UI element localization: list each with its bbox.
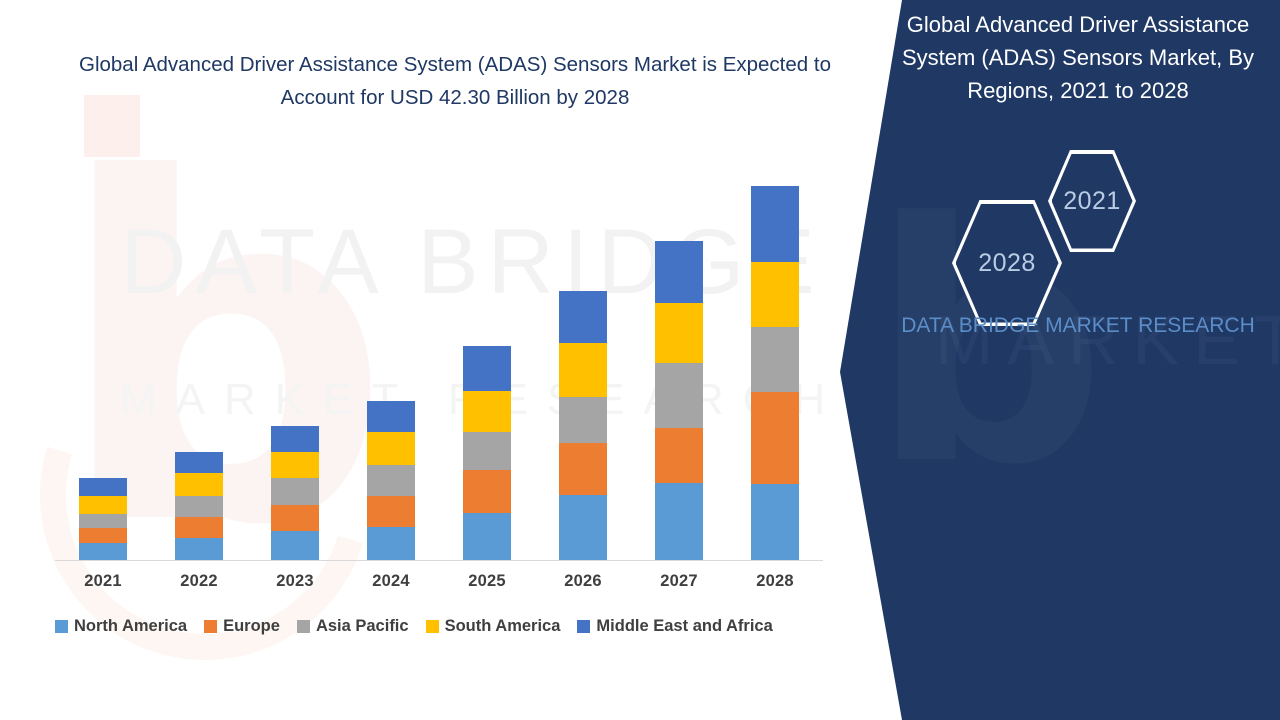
chart-legend: North AmericaEuropeAsia PacificSouth Ame…: [55, 617, 845, 636]
legend-label: Middle East and Africa: [596, 617, 772, 636]
bar-segment: [79, 496, 127, 514]
bar-segment: [367, 496, 415, 527]
brand-name: DATA BRIDGE MARKET RESEARCH: [892, 310, 1264, 342]
x-tick-2026: 2026: [535, 572, 631, 591]
stacked-bar: [559, 291, 607, 560]
x-tick-2025: 2025: [439, 572, 535, 591]
bar-segment: [751, 262, 799, 328]
bar-column-2023: [247, 160, 343, 560]
legend-item[interactable]: Europe: [204, 617, 280, 636]
chart-panel: b DATA BRIDGE MARKET RESEARCH Global Adv…: [0, 0, 900, 720]
title-panel: b MARKET RESEARCH Global Advanced Driver…: [840, 0, 1280, 720]
bar-segment: [79, 543, 127, 560]
legend-swatch-icon: [426, 620, 439, 633]
legend-swatch-icon: [55, 620, 68, 633]
x-axis-line: [55, 560, 823, 561]
page-title: Global Advanced Driver Assistance System…: [60, 48, 850, 114]
legend-label: South America: [445, 617, 561, 636]
x-tick-2023: 2023: [247, 572, 343, 591]
bar-segment: [175, 538, 223, 560]
bar-segment: [367, 527, 415, 560]
bar-segment: [655, 428, 703, 483]
bar-segment: [367, 465, 415, 496]
bar-segment: [175, 496, 223, 517]
legend-label: Asia Pacific: [316, 617, 409, 636]
stacked-bar: [79, 478, 127, 560]
bar-segment: [463, 346, 511, 391]
bar-segment: [559, 443, 607, 495]
bar-segment: [271, 426, 319, 452]
hexagon-2028-label: 2028: [956, 204, 1059, 323]
bar-segment: [271, 452, 319, 478]
legend-label: North America: [74, 617, 187, 636]
stacked-bar: [655, 241, 703, 560]
legend-item[interactable]: North America: [55, 617, 187, 636]
x-tick-2022: 2022: [151, 572, 247, 591]
bar-column-2022: [151, 160, 247, 560]
hexagon-2021-label: 2021: [1052, 154, 1133, 249]
bar-segment: [367, 401, 415, 433]
stacked-bar: [175, 452, 223, 560]
bar-segment: [175, 473, 223, 496]
bar-segment: [655, 241, 703, 304]
panel-title: Global Advanced Driver Assistance System…: [892, 8, 1264, 107]
bar-segment: [751, 392, 799, 484]
bar-segment: [175, 452, 223, 473]
bar-column-2026: [535, 160, 631, 560]
hexagon-group: 2021 2028: [840, 150, 1280, 310]
bar-segment: [559, 343, 607, 397]
x-tick-2028: 2028: [727, 572, 823, 591]
bar-segment: [79, 528, 127, 543]
hexagon-2028: 2028: [952, 200, 1062, 326]
bar-segment: [367, 432, 415, 465]
bar-segment: [271, 478, 319, 505]
bar-segment: [655, 303, 703, 363]
hexagon-2021: 2021: [1048, 150, 1136, 252]
bar-segment: [79, 478, 127, 496]
bar-segment: [559, 291, 607, 343]
bar-segment: [79, 514, 127, 528]
bar-column-2028: [727, 160, 823, 560]
stacked-bar: [367, 401, 415, 561]
legend-item[interactable]: South America: [426, 617, 561, 636]
bar-segment: [271, 505, 319, 531]
x-tick-2024: 2024: [343, 572, 439, 591]
bar-segment: [751, 186, 799, 262]
x-axis-tick-labels: 20212022202320242025202620272028: [55, 572, 823, 591]
bar-segment: [655, 483, 703, 560]
bar-segment: [559, 495, 607, 560]
bar-column-2025: [439, 160, 535, 560]
bar-segment: [463, 432, 511, 470]
bar-column-2027: [631, 160, 727, 560]
x-tick-2021: 2021: [55, 572, 151, 591]
legend-swatch-icon: [204, 620, 217, 633]
bar-segment: [271, 531, 319, 560]
bar-segment: [751, 484, 799, 560]
bar-segment: [463, 470, 511, 513]
legend-swatch-icon: [297, 620, 310, 633]
legend-item[interactable]: Asia Pacific: [297, 617, 409, 636]
stacked-bar: [271, 426, 319, 560]
x-tick-2027: 2027: [631, 572, 727, 591]
legend-item[interactable]: Middle East and Africa: [577, 617, 772, 636]
bar-column-2024: [343, 160, 439, 560]
stacked-bar: [463, 346, 511, 560]
infographic-canvas: b DATA BRIDGE MARKET RESEARCH Global Adv…: [0, 0, 1280, 720]
bar-segment: [463, 391, 511, 432]
legend-swatch-icon: [577, 620, 590, 633]
bar-segment: [751, 327, 799, 392]
bar-column-2021: [55, 160, 151, 560]
stacked-bar: [751, 186, 799, 560]
bar-segment: [559, 397, 607, 443]
bar-segment: [655, 363, 703, 428]
bar-segment: [463, 513, 511, 560]
legend-label: Europe: [223, 617, 280, 636]
stacked-bar-chart: [55, 160, 823, 560]
bar-segment: [175, 517, 223, 538]
